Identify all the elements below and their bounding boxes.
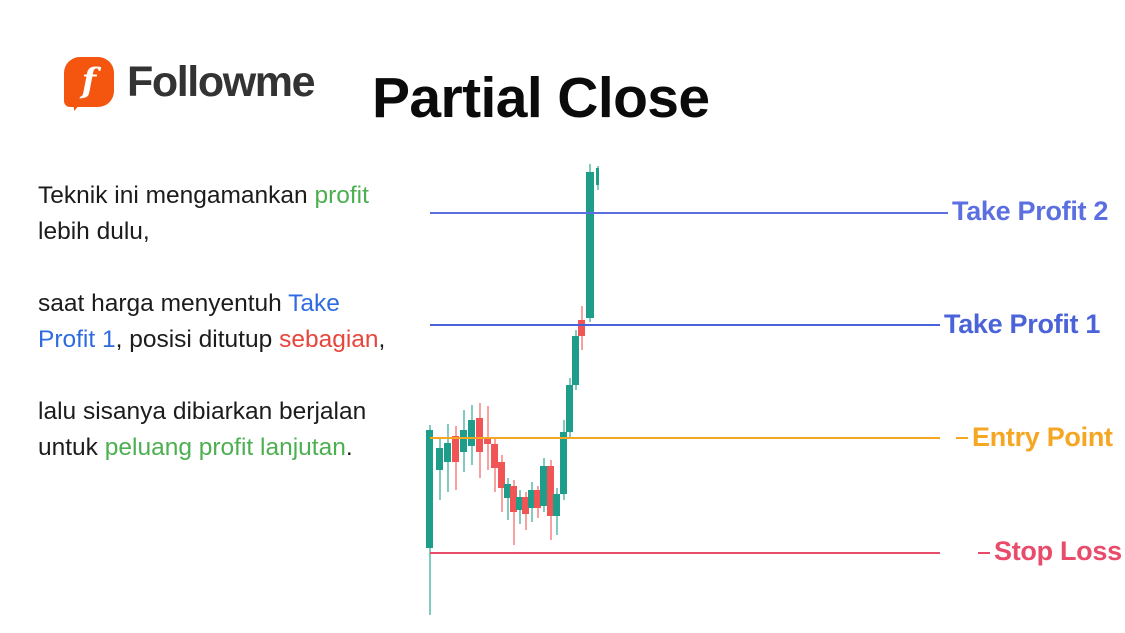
price-label-take-profit-1: Take Profit 1: [944, 311, 1100, 338]
candle-body: [596, 168, 599, 185]
candle-body: [426, 430, 433, 548]
candle-body: [436, 448, 443, 470]
candle-19-up: [553, 488, 560, 535]
candle-body: [476, 418, 483, 452]
candle-17-up: [540, 458, 547, 512]
price-label-stop-loss: Stop Loss: [994, 538, 1122, 565]
price-line-connector: [978, 552, 990, 554]
price-line-stop-loss: [430, 552, 940, 554]
candlestick-chart: Take Profit 2Take Profit 1Entry PointSto…: [0, 0, 1125, 633]
candle-23-down: [578, 306, 585, 350]
candle-25-up: [596, 166, 599, 190]
candle-body: [460, 430, 467, 452]
candle-body: [468, 420, 475, 446]
candle-3-up: [444, 424, 451, 492]
candle-2-up: [436, 438, 443, 500]
price-line-connector: [928, 324, 940, 326]
candle-5-up: [460, 410, 467, 472]
candle-7-down: [476, 403, 483, 478]
candle-4-down: [452, 426, 459, 490]
price-line-take-profit-1: [430, 324, 940, 326]
candle-body: [540, 466, 547, 506]
candle-body: [578, 320, 585, 336]
price-line-take-profit-2: [430, 212, 940, 214]
candle-body: [452, 436, 459, 462]
candle-body: [491, 444, 498, 468]
candle-body: [566, 385, 573, 432]
candle-9-down: [491, 437, 498, 492]
price-line-connector: [936, 212, 948, 214]
candle-body: [444, 443, 451, 462]
price-line-connector: [956, 437, 968, 439]
price-line-entry-point: [430, 437, 940, 439]
candle-6-up: [468, 405, 475, 465]
price-label-take-profit-2: Take Profit 2: [952, 198, 1108, 225]
candle-body: [560, 432, 567, 494]
candle-body: [553, 494, 560, 516]
candle-1-up: [426, 425, 433, 615]
slide-canvas: f Followme Partial Close Teknik ini meng…: [0, 0, 1125, 633]
candle-body: [586, 172, 594, 318]
price-label-entry-point: Entry Point: [972, 424, 1113, 451]
candle-24-up: [586, 164, 594, 322]
